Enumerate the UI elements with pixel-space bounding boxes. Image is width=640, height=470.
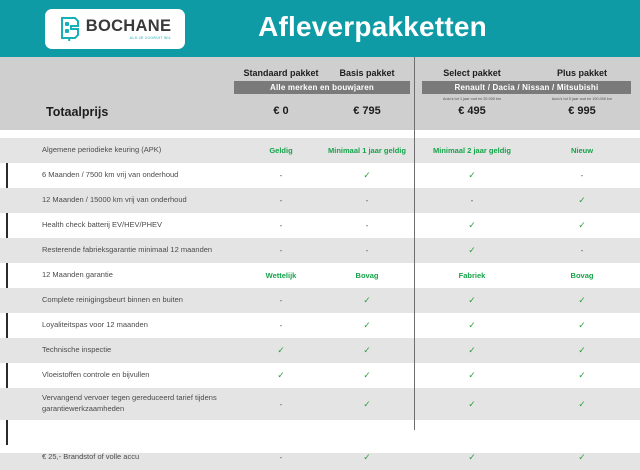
check-icon: ✓ [578,196,586,205]
check-icon: ✓ [578,321,586,330]
cell-standaard: Wettelijk [233,263,329,288]
dash-icon: - [280,453,283,462]
cell-plus: ✓ [532,213,632,238]
cell-standaard: ✓ [233,363,329,388]
cell-text: Fabriek [459,271,486,280]
dash-icon: - [280,246,283,255]
cell-text: Bovag [356,271,379,280]
column-header-standaard: Standaard pakket [233,68,329,78]
column-note-plus: Auto's tot 5 jaar oud en 100.000 km [532,97,632,101]
cell-plus: - [532,238,632,263]
table-row: 12 Maanden / 15000 km vrij van onderhoud… [0,188,640,213]
cell-basis: ✓ [327,363,407,388]
cell-plus: ✓ [532,388,632,420]
table-row: Technische inspectie✓✓✓✓ [0,338,640,363]
cell-standaard: - [233,238,329,263]
cell-standaard: - [233,313,329,338]
group-pill-all-brands: Alle merken en bouwjaren [234,81,410,94]
cell-text: Bovag [571,271,594,280]
row-label: Complete reinigingsbeurt binnen en buite… [42,288,232,313]
price-standaard: € 0 [233,105,329,117]
check-icon: ✓ [363,400,371,409]
row-left-edge [6,263,8,288]
group-divider [414,57,415,130]
page-banner: BOCHANE ALS JE VOORUIT WIL Afleverpakket… [0,0,640,57]
row-label: Technische inspectie [42,338,232,363]
check-icon: ✓ [578,296,586,305]
row-left-edge [6,163,8,188]
check-icon: ✓ [468,171,476,180]
table-row: Complete reinigingsbeurt binnen en buite… [0,288,640,313]
total-price-label: Totaalprijs [46,105,108,119]
row-label: Vervangend vervoer tegen gereduceerd tar… [42,388,232,420]
cell-plus: Nieuw [532,138,632,163]
cell-basis: Minimaal 1 jaar geldig [327,138,407,163]
check-icon: ✓ [363,453,371,462]
cell-select: - [422,188,522,213]
cell-standaard: - [233,213,329,238]
check-icon: ✓ [468,246,476,255]
table-row: Algemene periodieke keuring (APK)GeldigM… [0,138,640,163]
cell-text: Minimaal 2 jaar geldig [433,146,511,155]
table-row: Vervangend vervoer tegen gereduceerd tar… [0,388,640,420]
row-label: Health check batterij EV/HEV/PHEV [42,213,232,238]
dash-icon: - [471,196,474,205]
check-icon: ✓ [578,371,586,380]
table-rows-host: Algemene periodieke keuring (APK)GeldigM… [0,138,640,470]
table-row: Loyaliteitspas voor 12 maanden-✓✓✓ [0,313,640,338]
table-top-spacer [0,130,640,138]
row-label: Loyaliteitspas voor 12 maanden [42,313,232,338]
row-label: 6 Maanden / 7500 km vrij van onderhoud [42,163,232,188]
dash-icon: - [280,196,283,205]
cell-standaard: - [233,163,329,188]
cell-basis: ✓ [327,163,407,188]
cell-plus: ✓ [532,288,632,313]
dash-icon: - [280,171,283,180]
column-header-basis: Basis pakket [327,68,407,78]
cell-text: Minimaal 1 jaar geldig [328,146,406,155]
cell-select: ✓ [422,388,522,420]
cell-select: ✓ [422,288,522,313]
delivery-packages-comparison-page: BOCHANE ALS JE VOORUIT WIL Afleverpakket… [0,0,640,453]
cell-standaard: - [233,388,329,420]
cell-standaard: - [233,288,329,313]
check-icon: ✓ [468,346,476,355]
cell-plus: - [532,163,632,188]
price-basis: € 795 [327,105,407,117]
column-note-select: Auto's tot 1 jaar oud en 20.000 km [422,97,522,101]
table-bottom-spacer [0,427,640,453]
cell-select: ✓ [422,313,522,338]
check-icon: ✓ [363,296,371,305]
table-row: Vloeistoffen controle en bijvullen✓✓✓✓ [0,363,640,388]
dash-icon: - [366,221,369,230]
cell-select: ✓ [422,163,522,188]
cell-basis: - [327,238,407,263]
check-icon: ✓ [363,321,371,330]
cell-plus: ✓ [532,188,632,213]
page-title: Afleverpakketten [0,11,640,43]
cell-basis: ✓ [327,388,407,420]
cell-select: ✓ [422,338,522,363]
row-label: Vloeistoffen controle en bijvullen [42,363,232,388]
row-label: Algemene periodieke keuring (APK) [42,138,232,163]
table-header-band: Standaard pakket Basis pakket Select pak… [0,57,640,130]
cell-basis: - [327,213,407,238]
group-pill-brands: Renault / Dacia / Nissan / Mitsubishi [422,81,631,94]
table-row: 6 Maanden / 7500 km vrij van onderhoud-✓… [0,163,640,188]
column-header-select: Select pakket [422,68,522,78]
cell-text: Geldig [269,146,292,155]
table-row: Resterende fabrieksgarantie minimaal 12 … [0,238,640,263]
cell-standaard: ✓ [233,338,329,363]
row-left-edge [6,213,8,238]
cell-basis: - [327,188,407,213]
row-left-edge [6,363,8,388]
check-icon: ✓ [277,346,285,355]
cell-text: Wettelijk [266,271,297,280]
check-icon: ✓ [468,400,476,409]
dash-icon: - [280,400,283,409]
dash-icon: - [366,196,369,205]
cell-plus: ✓ [532,338,632,363]
cell-select: Fabriek [422,263,522,288]
dash-icon: - [581,171,584,180]
cell-standaard: - [233,188,329,213]
check-icon: ✓ [363,346,371,355]
cell-select: ✓ [422,213,522,238]
check-icon: ✓ [578,221,586,230]
row-left-edge [6,420,8,445]
check-icon: ✓ [363,171,371,180]
cell-standaard: Geldig [233,138,329,163]
cell-basis: ✓ [327,338,407,363]
check-icon: ✓ [468,453,476,462]
dash-icon: - [581,246,584,255]
row-left-edge [6,313,8,338]
check-icon: ✓ [468,221,476,230]
cell-basis: ✓ [327,288,407,313]
cell-select: ✓ [422,363,522,388]
row-label: 12 Maanden / 15000 km vrij van onderhoud [42,188,232,213]
price-plus: € 995 [532,105,632,117]
check-icon: ✓ [578,346,586,355]
check-icon: ✓ [468,296,476,305]
check-icon: ✓ [468,371,476,380]
cell-select: Minimaal 2 jaar geldig [422,138,522,163]
cell-plus: ✓ [532,313,632,338]
cell-basis: ✓ [327,313,407,338]
cell-select: ✓ [422,238,522,263]
table-row: Health check batterij EV/HEV/PHEV--✓✓ [0,213,640,238]
row-label: Resterende fabrieksgarantie minimaal 12 … [42,238,232,263]
dash-icon: - [280,296,283,305]
features-table: Algemene periodieke keuring (APK)GeldigM… [0,130,640,430]
check-icon: ✓ [578,453,586,462]
cell-plus: ✓ [532,363,632,388]
cell-basis: Bovag [327,263,407,288]
price-select: € 495 [422,105,522,117]
column-header-plus: Plus pakket [532,68,632,78]
dash-icon: - [280,221,283,230]
dash-icon: - [280,321,283,330]
dash-icon: - [366,246,369,255]
check-icon: ✓ [578,400,586,409]
cell-text: Nieuw [571,146,593,155]
check-icon: ✓ [363,371,371,380]
check-icon: ✓ [277,371,285,380]
cell-plus: Bovag [532,263,632,288]
row-label: 12 Maanden garantie [42,263,232,288]
check-icon: ✓ [468,321,476,330]
table-row: 12 Maanden garantieWettelijkBovagFabriek… [0,263,640,288]
